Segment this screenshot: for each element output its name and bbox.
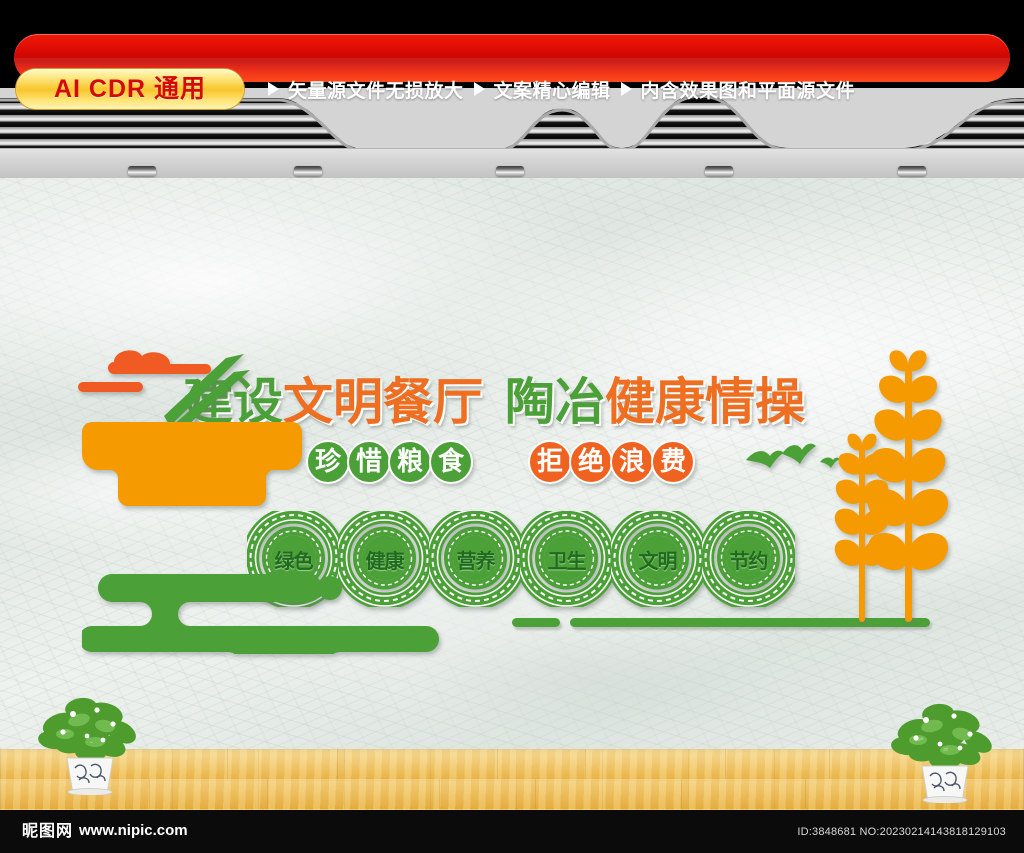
slogan-pill: 绝 [569, 440, 613, 484]
promo-feature-item: 矢量源文件无损放大 [258, 76, 464, 103]
ceiling-downlight [898, 166, 926, 176]
plant-foliage [37, 696, 140, 761]
footer-watermark-bar: 昵图网 www.nipic.com ID:3848681 NO:20230214… [0, 810, 1024, 853]
bowl-icon [82, 422, 302, 506]
slogan-right: 拒 绝 浪 费 [528, 440, 692, 484]
promo-feature-label: 矢量源文件无损放大 [288, 76, 464, 103]
promo-feature-label: 内含效果图和平面源文件 [641, 76, 856, 103]
steam-swirl-icon [78, 350, 211, 392]
flower-pot [67, 758, 113, 795]
flower-pot [922, 766, 968, 803]
plant-foliage [890, 702, 995, 769]
slogan-pill: 惜 [347, 440, 391, 484]
cdr-format-badge-label: AI CDR 通用 [54, 77, 206, 102]
promo-feature-item: 文案精心编辑 [464, 76, 611, 103]
cloud-base-shape [82, 574, 582, 654]
site-logo-text: 昵图网 [22, 822, 73, 840]
promo-feature-label: 文案精心编辑 [494, 76, 611, 103]
slogan-pill: 拒 [528, 440, 572, 484]
slogan-pill: 费 [651, 440, 695, 484]
site-brand: 昵图网 www.nipic.com [22, 822, 188, 840]
ceiling-downlight [705, 166, 733, 176]
play-triangle-icon [621, 82, 632, 96]
greek-key-ring-icon [611, 511, 704, 607]
play-triangle-icon [268, 82, 279, 96]
site-url: www.nipic.com [79, 822, 188, 840]
title-char: 健康情操 [605, 374, 805, 430]
wheat-stalk-icon [828, 350, 968, 625]
wood-floor [0, 749, 1024, 810]
slogan-pill: 粮 [388, 440, 432, 484]
value-circle: 节约 [702, 511, 795, 607]
title-char: 陶冶 [505, 374, 605, 430]
wall-artwork: 建设文明餐厅陶冶健康情操 珍 惜 粮 食 拒 绝 浪 费 [0, 178, 1024, 749]
cdr-format-badge: AI CDR 通用 [16, 69, 244, 109]
green-divider-dash [512, 618, 560, 627]
potted-plant-right [890, 688, 1000, 803]
asset-id-text: ID:3848681 NO:20230214143818129103 [797, 826, 1006, 838]
promo-banner: AI CDR 通用 矢量源文件无损放大 文案精心编辑 内含效果图和平面源文件 [0, 30, 1024, 86]
room-mockup: 建设文明餐厅陶冶健康情操 珍 惜 粮 食 拒 绝 浪 费 [0, 88, 1024, 810]
ceiling-downlight [496, 166, 524, 176]
slogan-pill: 浪 [610, 440, 654, 484]
ceiling-downlight [294, 166, 322, 176]
slogan-pill: 食 [429, 440, 473, 484]
potted-plant-left [35, 680, 145, 795]
promo-feature-item: 内含效果图和平面源文件 [611, 76, 856, 103]
screenshot-canvas: AI CDR 通用 矢量源文件无损放大 文案精心编辑 内含效果图和平面源文件 [0, 0, 1024, 853]
ceiling-downlight [128, 166, 156, 176]
promo-feature-list: 矢量源文件无损放大 文案精心编辑 内含效果图和平面源文件 [258, 69, 1006, 109]
value-circle: 文明 [611, 511, 704, 607]
play-triangle-icon [474, 82, 485, 96]
greek-key-ring-icon [702, 511, 795, 607]
